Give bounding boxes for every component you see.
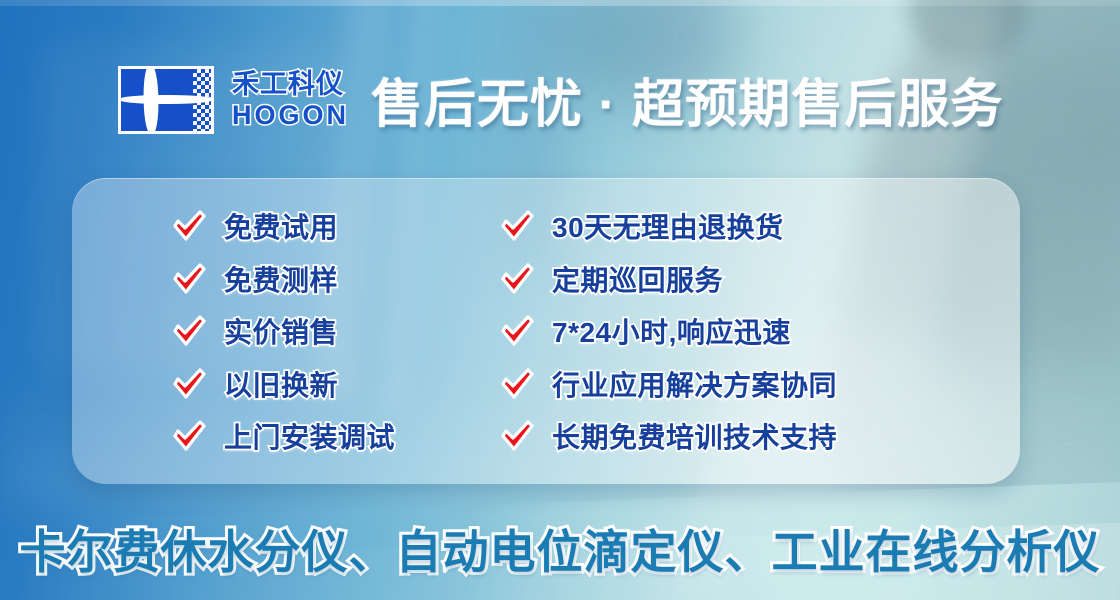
brand-wordmark: 禾工科仪 HOGON [232,71,349,129]
red-check-icon [500,368,534,400]
list-item: 30天无理由退换货 [500,200,1002,252]
list-item-label: 行业应用解决方案协同 [552,364,837,404]
list-item: 定期巡回服务 [500,253,1002,305]
list-item-label: 30天无理由退换货 [552,206,784,246]
red-check-icon [500,315,534,347]
red-check-icon [172,210,206,242]
list-item-label: 长期免费培训技术支持 [552,416,837,456]
list-item-label: 7*24小时,响应迅速 [552,311,791,351]
list-item: 上门安装调试 [172,410,442,462]
banner-header: 禾工科仪 HOGON 售后无忧 · 超预期售后服务 [118,62,1003,137]
red-check-icon [172,315,206,347]
red-check-icon [172,263,206,295]
list-item: 长期免费培训技术支持 [500,410,1002,462]
product-list-text: 卡尔费休水分仪、自动电位滴定仪、工业在线分析仪 [20,516,1101,582]
list-item-label: 免费测样 [224,259,338,299]
list-item-label: 上门安装调试 [224,416,395,456]
list-item: 免费测样 [172,253,442,305]
red-check-icon [500,263,534,295]
bg-top-sheen [0,0,1120,6]
flag-field [121,69,211,131]
page-title: 售后无忧 · 超预期售后服务 [371,62,1003,137]
list-item-label: 实价销售 [224,311,338,351]
list-item-label: 定期巡回服务 [552,259,723,299]
list-item-label: 免费试用 [224,206,338,246]
list-item-label: 以旧换新 [224,364,338,404]
hogon-flag-logo-icon [118,66,214,134]
product-strip: 卡尔费休水分仪、自动电位滴定仪、工业在线分析仪 [0,516,1120,582]
brand-name-en: HOGON [232,102,349,129]
list-item: 以旧换新 [172,358,442,410]
red-check-icon [172,368,206,400]
list-item: 行业应用解决方案协同 [500,358,1002,410]
flag-perforation-pattern [193,69,211,131]
list-item: 实价销售 [172,305,442,357]
feature-column-left: 免费试用 免费测样 实价销售 以旧换新 [72,200,442,462]
red-check-icon [500,210,534,242]
list-item: 7*24小时,响应迅速 [500,305,1002,357]
red-check-icon [500,420,534,452]
red-check-icon [172,420,206,452]
list-item: 免费试用 [172,200,442,252]
bg-blur-person-head [908,0,1028,64]
service-feature-card: 免费试用 免费测样 实价销售 以旧换新 [72,178,1020,484]
promo-banner: 禾工科仪 HOGON 售后无忧 · 超预期售后服务 免费试用 免费测样 [0,0,1120,600]
feature-column-right: 30天无理由退换货 定期巡回服务 7*24小时,响应迅速 行业应用解决方案协同 [442,200,1002,462]
brand-name-cn: 禾工科仪 [232,71,349,98]
